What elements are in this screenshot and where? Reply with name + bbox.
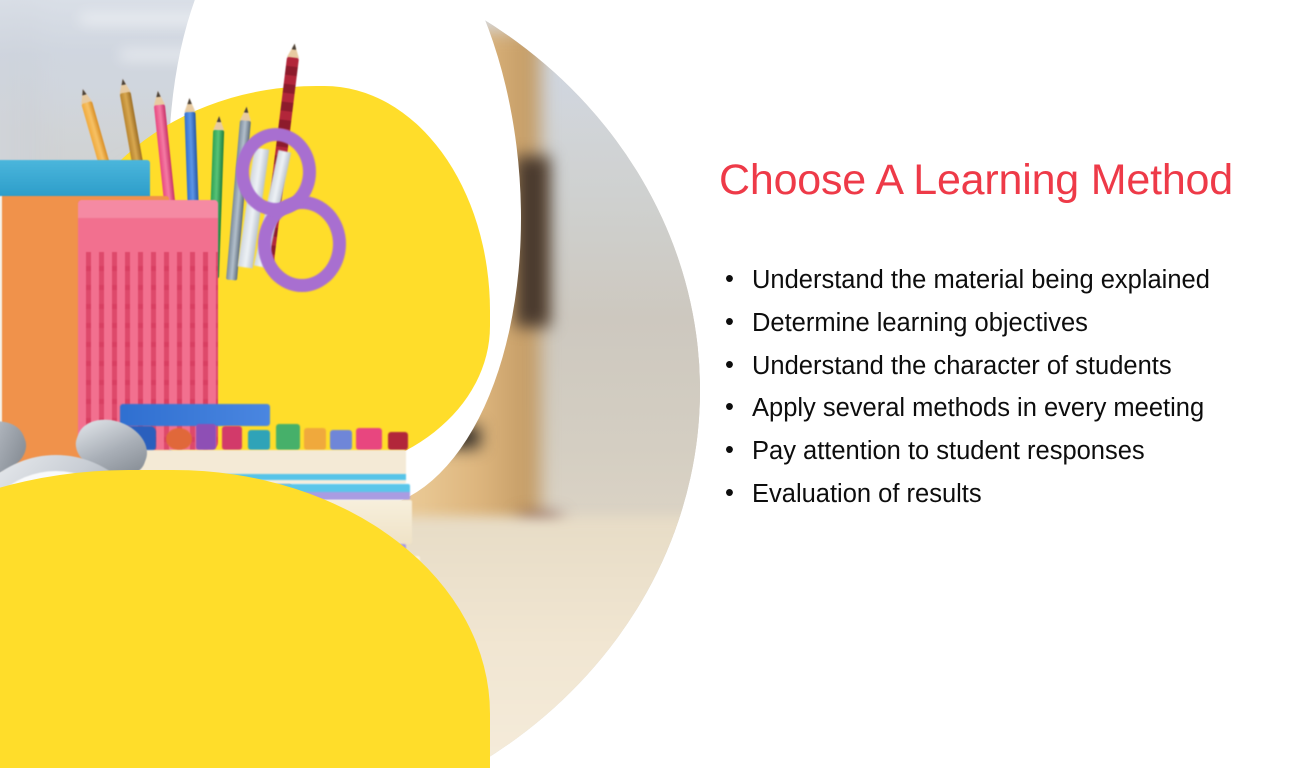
bullet-marker: •	[725, 393, 734, 423]
scissors-handle-ring	[236, 128, 316, 216]
marker-cap	[196, 424, 216, 450]
list-item-label: Determine learning objectives	[752, 309, 1088, 337]
blue-ruler	[120, 404, 270, 426]
marker-cap	[248, 430, 270, 450]
list-item: • Determine learning objectives	[720, 309, 1240, 339]
bullet-marker: •	[725, 265, 734, 295]
slide-content: Choose A Learning Method • Understand th…	[700, 0, 1306, 768]
marker-cap	[330, 430, 352, 450]
list-item-label: Pay attention to student responses	[752, 437, 1145, 465]
list-item-label: Understand the material being explained	[752, 266, 1210, 294]
bullet-marker: •	[725, 308, 734, 338]
marker-cap	[388, 432, 408, 450]
marker-cap	[222, 426, 242, 450]
eraser	[166, 428, 192, 450]
list-item: • Apply several methods in every meeting	[720, 394, 1240, 424]
yellow-accent-bottom-fill	[0, 690, 250, 768]
bullet-marker: •	[725, 351, 734, 381]
list-item: • Understand the character of students	[720, 352, 1240, 382]
marker-cap	[356, 428, 382, 450]
list-item: • Evaluation of results	[720, 480, 1240, 510]
list-item-label: Evaluation of results	[752, 480, 982, 508]
presentation-slide: 12 1 2 3 4 5 6 7 8 9 10 11	[0, 0, 1306, 768]
bullet-marker: •	[725, 479, 734, 509]
slide-artwork: 12 1 2 3 4 5 6 7 8 9 10 11	[0, 0, 700, 768]
bullet-list: • Understand the material being explaine…	[720, 266, 1240, 523]
basket-rim	[78, 200, 218, 218]
marker-cap	[276, 424, 300, 450]
marker-cap	[304, 428, 326, 450]
list-item: • Pay attention to student responses	[720, 437, 1240, 467]
slide-title: Choose A Learning Method	[719, 157, 1299, 203]
list-item: • Understand the material being explaine…	[720, 266, 1240, 296]
list-item-label: Understand the character of students	[752, 352, 1172, 380]
bullet-marker: •	[725, 436, 734, 466]
list-item-label: Apply several methods in every meeting	[752, 394, 1204, 422]
